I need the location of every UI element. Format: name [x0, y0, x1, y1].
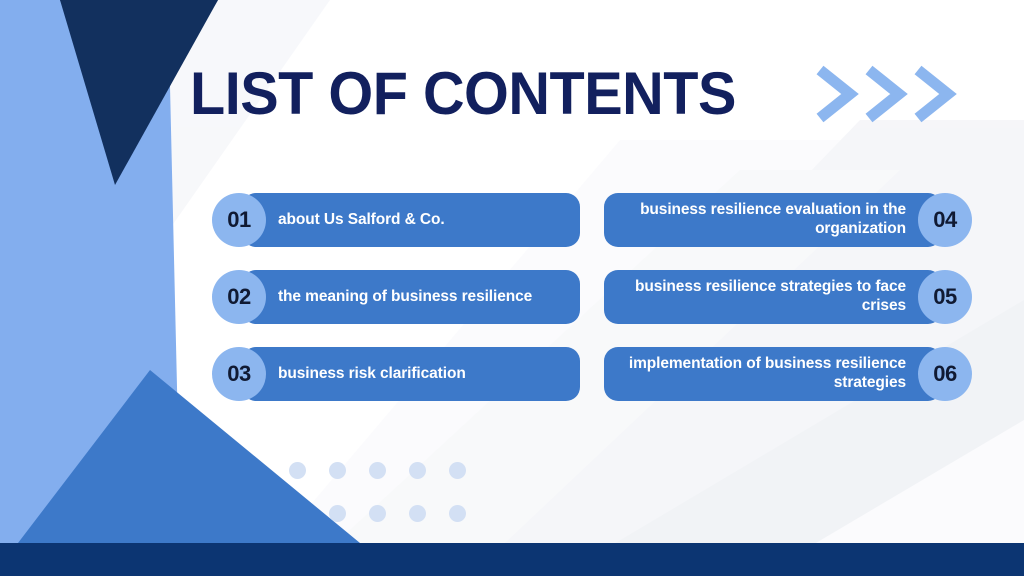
toc-item-label: business resilience evaluation in the or…: [618, 201, 906, 239]
toc-item-03[interactable]: 03 business risk clarification: [212, 347, 580, 401]
chevron-right-icon: [918, 70, 948, 118]
toc-item-05[interactable]: 05 business resilience strategies to fac…: [604, 270, 972, 324]
toc-item-label: about Us Salford & Co.: [278, 211, 445, 230]
dot: [449, 505, 466, 522]
dot-grid-decoration: [286, 460, 476, 526]
toc-pill[interactable]: about Us Salford & Co.: [242, 193, 580, 247]
toc-item-label: business risk clarification: [278, 365, 466, 384]
chevron-right-icon: [869, 70, 899, 118]
contents-left-column: 01 about Us Salford & Co. 02 the meaning…: [212, 193, 580, 424]
dot: [329, 505, 346, 522]
toc-item-02[interactable]: 02 the meaning of business resilience: [212, 270, 580, 324]
toc-pill[interactable]: business resilience strategies to face c…: [604, 270, 942, 324]
toc-number-badge: 03: [212, 347, 266, 401]
toc-item-label: business resilience strategies to face c…: [618, 278, 906, 316]
toc-number-badge: 05: [918, 270, 972, 324]
dot: [409, 462, 426, 479]
page-title: LIST OF CONTENTS: [190, 64, 736, 124]
dot: [449, 462, 466, 479]
toc-pill[interactable]: the meaning of business resilience: [242, 270, 580, 324]
toc-item-label: implementation of business resilience st…: [618, 355, 906, 393]
dot: [369, 462, 386, 479]
chevron-right-icon-group: [812, 58, 967, 130]
toc-item-label: the meaning of business resilience: [278, 288, 532, 307]
toc-number-badge: 04: [918, 193, 972, 247]
toc-item-01[interactable]: 01 about Us Salford & Co.: [212, 193, 580, 247]
title-container: LIST OF CONTENTS: [190, 58, 830, 130]
dot: [329, 462, 346, 479]
chevron-right-icon: [820, 70, 850, 118]
toc-number-badge: 06: [918, 347, 972, 401]
dot: [289, 462, 306, 479]
bottom-navy-bar: [0, 543, 1024, 576]
toc-number-badge: 01: [212, 193, 266, 247]
toc-pill[interactable]: business resilience evaluation in the or…: [604, 193, 942, 247]
toc-pill[interactable]: implementation of business resilience st…: [604, 347, 942, 401]
toc-item-04[interactable]: 04 business resilience evaluation in the…: [604, 193, 972, 247]
toc-number-badge: 02: [212, 270, 266, 324]
dot: [409, 505, 426, 522]
toc-item-06[interactable]: 06 implementation of business resilience…: [604, 347, 972, 401]
presentation-slide: LIST OF CONTENTS 01 about Us Salford & C…: [0, 0, 1024, 576]
toc-pill[interactable]: business risk clarification: [242, 347, 580, 401]
contents-right-column: 04 business resilience evaluation in the…: [604, 193, 972, 424]
dot: [369, 505, 386, 522]
